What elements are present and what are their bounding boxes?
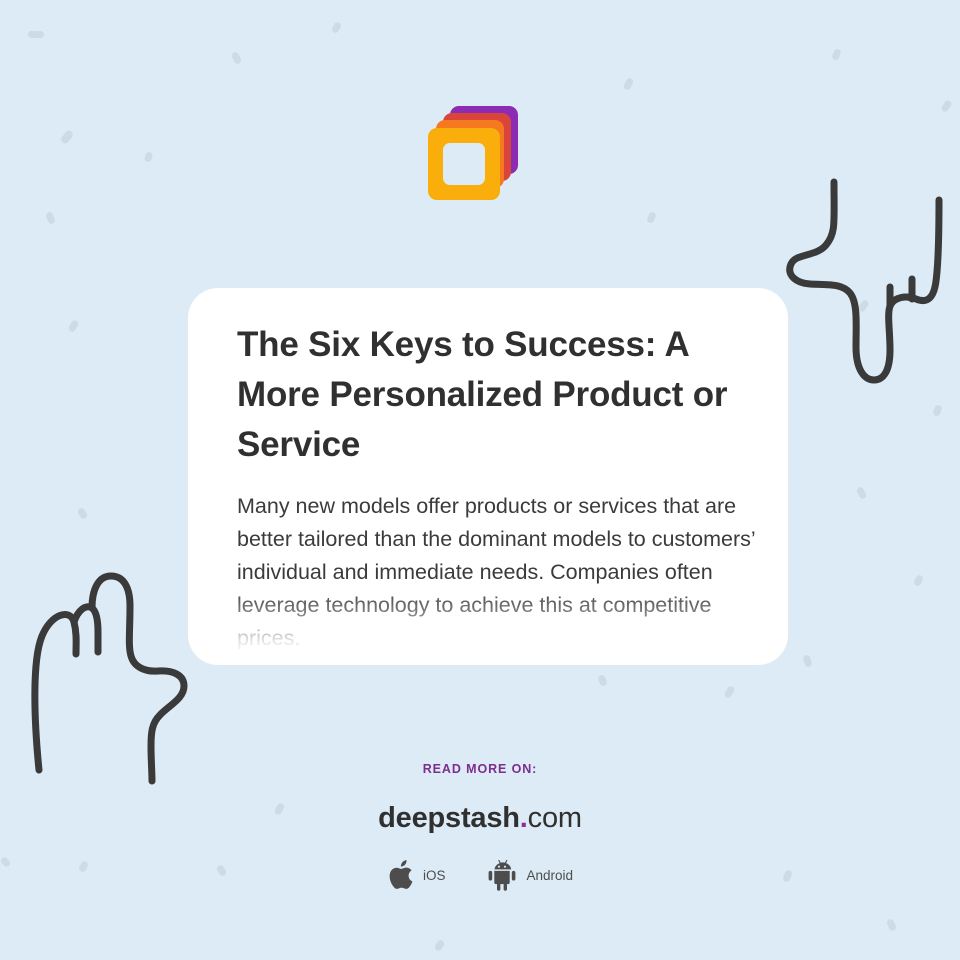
android-icon	[487, 859, 517, 891]
card-content: The Six Keys to Success: A More Personal…	[237, 320, 756, 665]
confetti-speck	[913, 574, 924, 587]
confetti-speck	[28, 31, 44, 39]
confetti-speck	[231, 51, 242, 65]
confetti-speck	[831, 48, 842, 61]
confetti-speck	[331, 21, 343, 34]
share-card-canvas: The Six Keys to Success: A More Personal…	[0, 0, 960, 960]
footer: READ MORE ON: deepstash.com iOS	[0, 762, 960, 891]
pointing-hand-illustration-bottom-left	[18, 560, 213, 790]
confetti-speck	[857, 299, 870, 313]
apple-icon	[387, 859, 414, 891]
content-card: The Six Keys to Success: A More Personal…	[188, 288, 788, 665]
deepstash-logo	[428, 106, 518, 198]
confetti-speck	[723, 685, 735, 699]
confetti-speck	[434, 939, 446, 952]
read-more-label: READ MORE ON:	[0, 762, 960, 776]
confetti-speck	[77, 507, 89, 520]
brand-name: deepstash	[378, 802, 520, 834]
confetti-speck	[597, 674, 608, 687]
logo-amber-layer	[428, 128, 500, 200]
ios-store-badge[interactable]: iOS	[387, 859, 446, 891]
android-store-badge[interactable]: Android	[487, 859, 573, 891]
pointing-hand-illustration-top-right	[782, 175, 952, 395]
confetti-speck	[646, 211, 657, 224]
brand-wordmark[interactable]: deepstash.com	[0, 802, 960, 835]
confetti-speck	[802, 654, 812, 668]
store-badges: iOS	[0, 859, 960, 891]
brand-dot: .	[520, 802, 528, 834]
confetti-speck	[623, 77, 635, 91]
confetti-speck	[932, 404, 942, 417]
confetti-speck	[67, 319, 79, 333]
confetti-speck	[856, 486, 868, 500]
card-body-container: Many new models offer products or servic…	[237, 490, 756, 665]
confetti-speck	[940, 99, 953, 113]
confetti-speck	[144, 151, 154, 163]
card-body-text: Many new models offer products or servic…	[237, 490, 756, 655]
android-store-label: Android	[526, 868, 573, 883]
confetti-speck	[45, 211, 56, 225]
confetti-speck	[60, 129, 75, 145]
card-title: The Six Keys to Success: A More Personal…	[237, 320, 747, 470]
brand-tld: com	[528, 802, 582, 834]
ios-store-label: iOS	[423, 868, 446, 883]
confetti-speck	[886, 918, 897, 932]
